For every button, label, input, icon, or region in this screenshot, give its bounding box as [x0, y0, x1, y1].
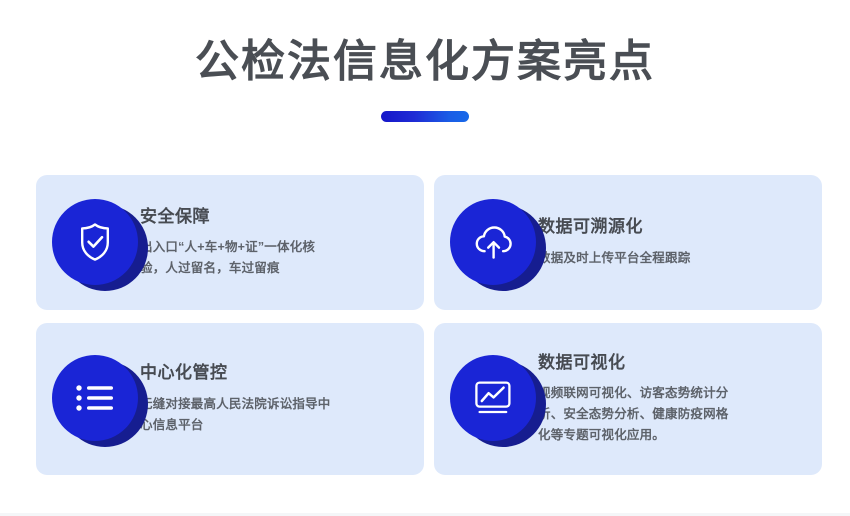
- highlight-card-data-visualization[interactable]: 数据可视化 视频联网可视化、访客态势统计分析、安全态势分析、健康防疫网格化等专题…: [434, 323, 822, 475]
- highlight-card-security[interactable]: 安全保障 出入口“人+车+物+证”一体化核验，人过留名，车过留痕: [36, 175, 424, 310]
- icon-circle: [450, 199, 536, 285]
- card-title: 数据可溯源化: [538, 216, 690, 238]
- card-text-block: 中心化管控 无缝对接最高人民法院诉讼指导中心信息平台: [140, 323, 356, 475]
- bullet-list-icon: [74, 382, 116, 414]
- card-title: 安全保障: [140, 206, 336, 228]
- card-description: 出入口“人+车+物+证”一体化核验，人过留名，车过留痕: [140, 237, 336, 279]
- card-description: 数据及时上传平台全程跟踪: [538, 248, 690, 269]
- icon-container: [434, 175, 538, 310]
- cloud-upload-icon: [471, 222, 515, 262]
- shield-check-icon: [75, 221, 115, 263]
- icon-circle: [52, 355, 138, 441]
- page-title: 公检法信息化方案亮点: [0, 36, 850, 89]
- icon-container: [36, 175, 140, 310]
- card-text-block: 数据可溯源化 数据及时上传平台全程跟踪: [538, 175, 706, 310]
- highlights-page: 公检法信息化方案亮点 安全保障 出入口“人+车+物+证”一体化核验，人: [0, 0, 850, 516]
- page-header: 公检法信息化方案亮点: [0, 0, 850, 122]
- highlight-card-grid: 安全保障 出入口“人+车+物+证”一体化核验，人过留名，车过留痕: [36, 175, 822, 475]
- card-text-block: 数据可视化 视频联网可视化、访客态势统计分析、安全态势分析、健康防疫网格化等专题…: [538, 323, 754, 475]
- card-title: 数据可视化: [538, 352, 738, 374]
- highlight-card-centralized-control[interactable]: 中心化管控 无缝对接最高人民法院诉讼指导中心信息平台: [36, 323, 424, 475]
- title-underline-pill: [381, 111, 469, 122]
- highlight-card-data-traceability[interactable]: 数据可溯源化 数据及时上传平台全程跟踪: [434, 175, 822, 310]
- card-text-block: 安全保障 出入口“人+车+物+证”一体化核验，人过留名，车过留痕: [140, 175, 352, 310]
- icon-circle: [52, 199, 138, 285]
- card-description: 无缝对接最高人民法院诉讼指导中心信息平台: [140, 394, 340, 436]
- icon-container: [36, 323, 140, 475]
- card-title: 中心化管控: [140, 362, 340, 384]
- card-description: 视频联网可视化、访客态势统计分析、安全态势分析、健康防疫网格化等专题可视化应用。: [538, 383, 738, 446]
- icon-container: [434, 323, 538, 475]
- chart-monitor-icon: [472, 379, 514, 417]
- icon-circle: [450, 355, 536, 441]
